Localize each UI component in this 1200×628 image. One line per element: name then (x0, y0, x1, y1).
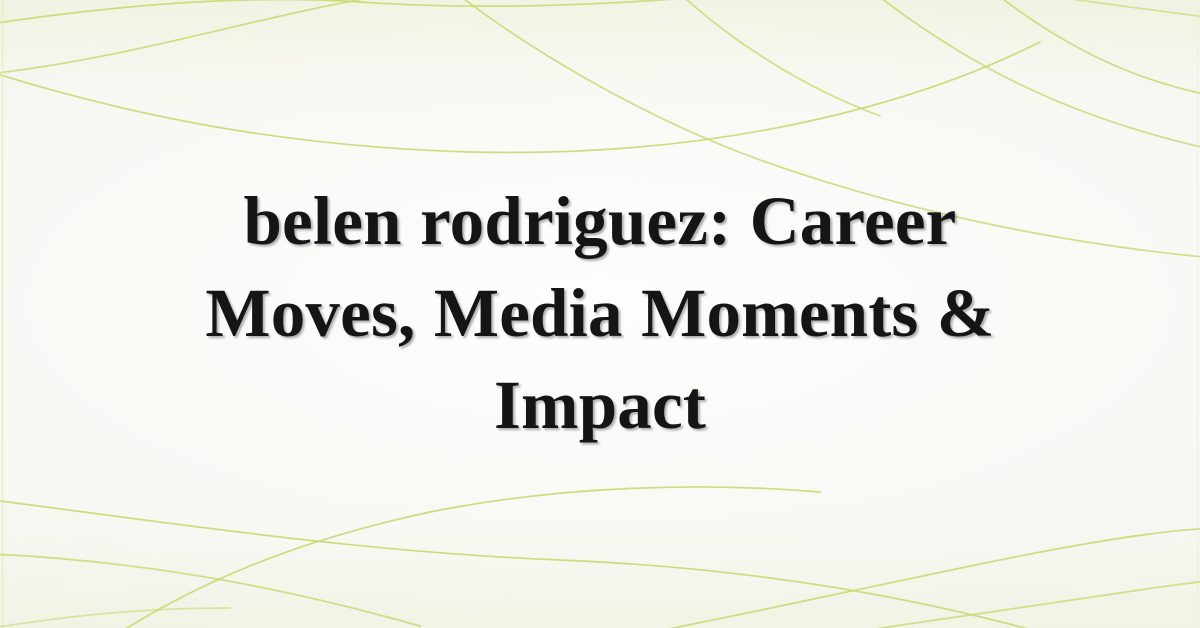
page-title: belen rodriguez: Career Moves, Media Mom… (130, 176, 1070, 451)
title-container: belen rodriguez: Career Moves, Media Mom… (0, 0, 1200, 628)
title-card: belen rodriguez: Career Moves, Media Mom… (0, 0, 1200, 628)
